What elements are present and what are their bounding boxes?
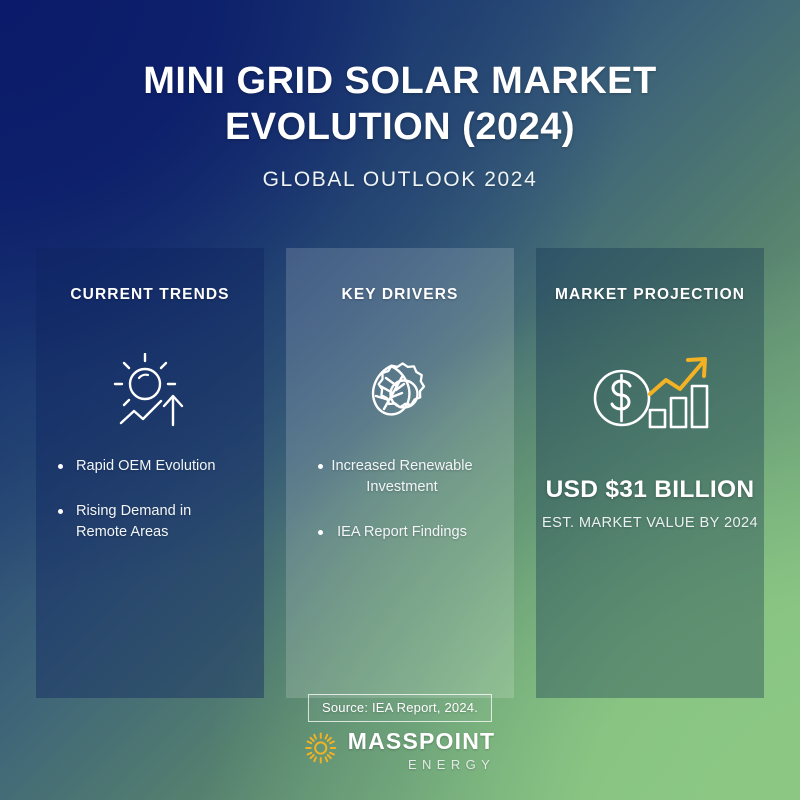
card-title: MARKET PROJECTION <box>536 286 764 304</box>
bullet-dot-icon <box>318 464 323 469</box>
brand-logo: MASSPOINT ENERGY <box>305 730 496 771</box>
market-value-caption: EST. MARKET VALUE BY 2024 <box>536 513 764 534</box>
market-value: USD $31 BILLION <box>536 476 764 504</box>
bullet-dot-icon <box>58 509 63 514</box>
list-item: Rising Demand in Remote Areas <box>54 501 246 543</box>
card-market-projection: MARKET PROJECTION USD $31 BILLION EST. M… <box>536 248 764 698</box>
bullet-list: Increased Renewable Investment IEA Repor… <box>306 456 498 567</box>
card-key-drivers: KEY DRIVERS Increased Renewable Investme… <box>286 248 514 698</box>
bullet-text: Rising Demand in Remote Areas <box>76 503 191 540</box>
value-block: USD $31 BILLION EST. MARKET VALUE BY 202… <box>536 476 764 534</box>
infographic-poster: MINI GRID SOLAR MARKET EVOLUTION (2024) … <box>0 0 800 800</box>
leaf-gear-icon <box>286 344 514 444</box>
list-item: IEA Report Findings <box>306 522 498 543</box>
list-item: Rapid OEM Evolution <box>54 456 246 477</box>
bullet-list: Rapid OEM Evolution Rising Demand in Rem… <box>54 456 246 567</box>
bullet-text: Increased Renewable Investment <box>331 458 472 495</box>
sun-icon <box>305 732 337 769</box>
source-note: Source: IEA Report, 2024. <box>308 694 492 722</box>
dollar-bargraph-icon <box>536 344 764 444</box>
sun-growth-icon <box>36 344 264 444</box>
header: MINI GRID SOLAR MARKET EVOLUTION (2024) … <box>0 58 800 192</box>
bullet-text: Rapid OEM Evolution <box>76 458 216 474</box>
bullet-dot-icon <box>58 464 63 469</box>
list-item: Increased Renewable Investment <box>306 456 498 498</box>
bullet-dot-icon <box>318 530 323 535</box>
page-subtitle: GLOBAL OUTLOOK 2024 <box>0 168 800 192</box>
card-title: KEY DRIVERS <box>286 286 514 304</box>
bullet-text: IEA Report Findings <box>337 524 467 540</box>
card-current-trends: CURRENT TRENDS Rapid OEM Evoluti <box>36 248 264 698</box>
cards-container: CURRENT TRENDS Rapid OEM Evoluti <box>36 248 764 698</box>
logo-name: MASSPOINT <box>348 730 496 753</box>
page-title: MINI GRID SOLAR MARKET EVOLUTION (2024) <box>50 58 750 150</box>
logo-text: MASSPOINT ENERGY <box>348 730 496 771</box>
logo-tagline: ENERGY <box>348 758 496 771</box>
card-title: CURRENT TRENDS <box>36 286 264 304</box>
